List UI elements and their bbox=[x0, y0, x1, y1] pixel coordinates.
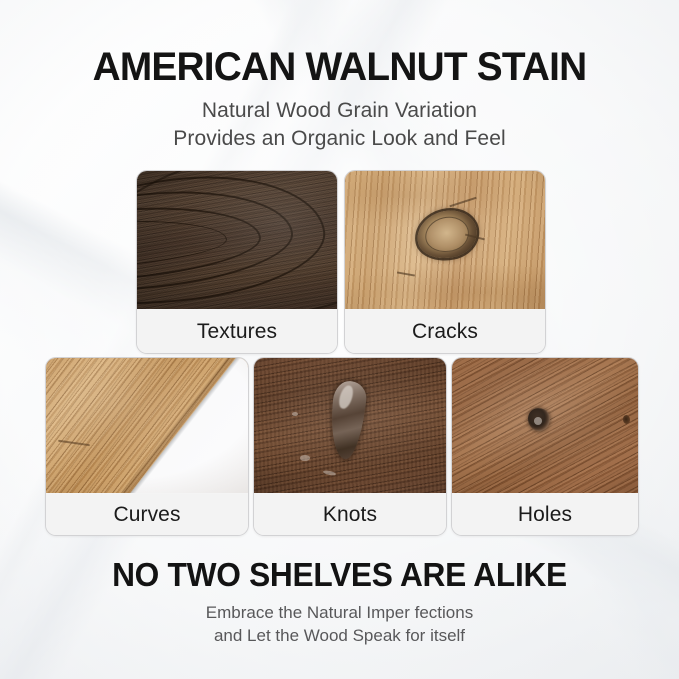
footer-title: NO TWO SHELVES ARE ALIKE bbox=[14, 556, 666, 594]
feature-card-holes[interactable]: Holes bbox=[451, 357, 639, 536]
feature-photo-cracks bbox=[345, 171, 545, 309]
footer-subtitle-line-2: and Let the Wood Speak for itself bbox=[0, 626, 679, 646]
feature-label-textures: Textures bbox=[137, 310, 337, 353]
feature-card-cracks[interactable]: Cracks bbox=[344, 170, 546, 354]
feature-photo-holes bbox=[452, 358, 638, 493]
footer-subtitle-line-1: Embrace the Natural Imper fections bbox=[0, 603, 679, 623]
feature-label-holes: Holes bbox=[452, 494, 638, 535]
feature-label-cracks: Cracks bbox=[345, 310, 545, 353]
feature-photo-curves bbox=[46, 358, 248, 493]
infographic-page: AMERICAN WALNUT STAIN Natural Wood Grain… bbox=[0, 0, 679, 679]
feature-photo-knots bbox=[254, 358, 446, 493]
feature-label-knots: Knots bbox=[254, 494, 446, 535]
feature-card-knots[interactable]: Knots bbox=[253, 357, 447, 536]
feature-card-curves[interactable]: Curves bbox=[45, 357, 249, 536]
feature-label-curves: Curves bbox=[46, 494, 248, 535]
page-subtitle-line-1: Natural Wood Grain Variation bbox=[0, 99, 679, 123]
page-subtitle-line-2: Provides an Organic Look and Feel bbox=[0, 127, 679, 151]
feature-photo-textures bbox=[137, 171, 337, 309]
page-title: AMERICAN WALNUT STAIN bbox=[10, 45, 669, 90]
feature-card-textures[interactable]: Textures bbox=[136, 170, 338, 354]
